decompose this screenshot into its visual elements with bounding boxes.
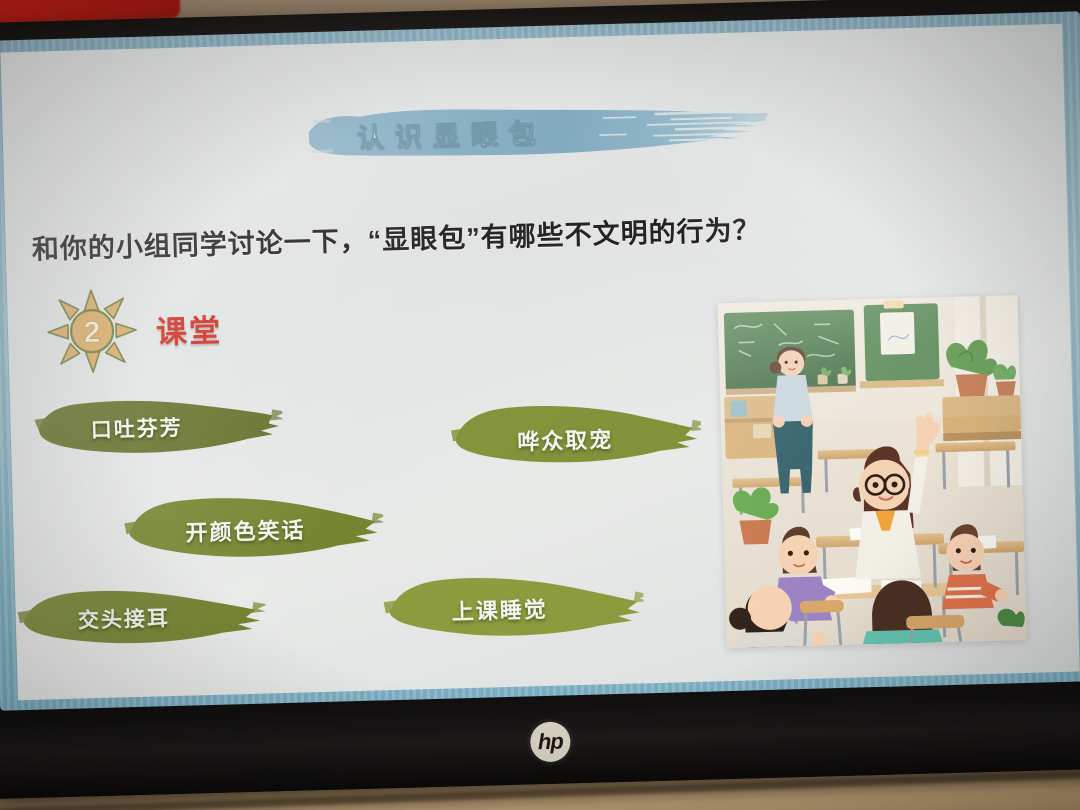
- behavior-item-5-label: 上课睡觉: [451, 592, 548, 627]
- monitor: 认识显眼包 和你的小组同学讨论一下，“显眼包”有哪些不文明的行为？: [0, 0, 1080, 799]
- slide-title-banner: 认识显眼包: [302, 94, 774, 169]
- behavior-item-4-label: 交头接耳: [77, 602, 170, 634]
- section-number-text: 2: [83, 316, 101, 349]
- behavior-item-2[interactable]: 哗众取宠: [450, 392, 702, 477]
- section-label-text: 课堂: [155, 305, 222, 352]
- behavior-item-3-label: 开颜色笑话: [185, 512, 306, 547]
- slide-title-text: 认识显眼包: [356, 111, 547, 155]
- behavior-item-5[interactable]: 上课睡觉: [383, 563, 645, 650]
- classroom-scene-icon: [718, 295, 1027, 648]
- sun-badge-icon: 2: [45, 287, 139, 375]
- discussion-question-text: 和你的小组同学讨论一下，“显眼包”有哪些不文明的行为？: [31, 208, 761, 267]
- screen-backlight-frame: 认识显眼包 和你的小组同学讨论一下，“显眼包”有哪些不文明的行为？: [0, 11, 1080, 710]
- behavior-item-3[interactable]: 开颜色笑话: [122, 482, 384, 571]
- behavior-item-4[interactable]: 交头接耳: [15, 576, 267, 661]
- behavior-item-1[interactable]: 口吐芬芳: [32, 385, 284, 470]
- photo-scene: 认识显眼包 和你的小组同学讨论一下，“显眼包”有哪些不文明的行为？: [0, 0, 1080, 810]
- presentation-slide: 认识显眼包 和你的小组同学讨论一下，“显眼包”有哪些不文明的行为？: [1, 24, 1080, 700]
- classroom-illustration: [718, 295, 1027, 648]
- section-badge: 2 课堂: [45, 284, 247, 375]
- behavior-item-1-label: 口吐芬芳: [90, 412, 183, 444]
- behavior-item-2-label: 哗众取宠: [517, 422, 614, 457]
